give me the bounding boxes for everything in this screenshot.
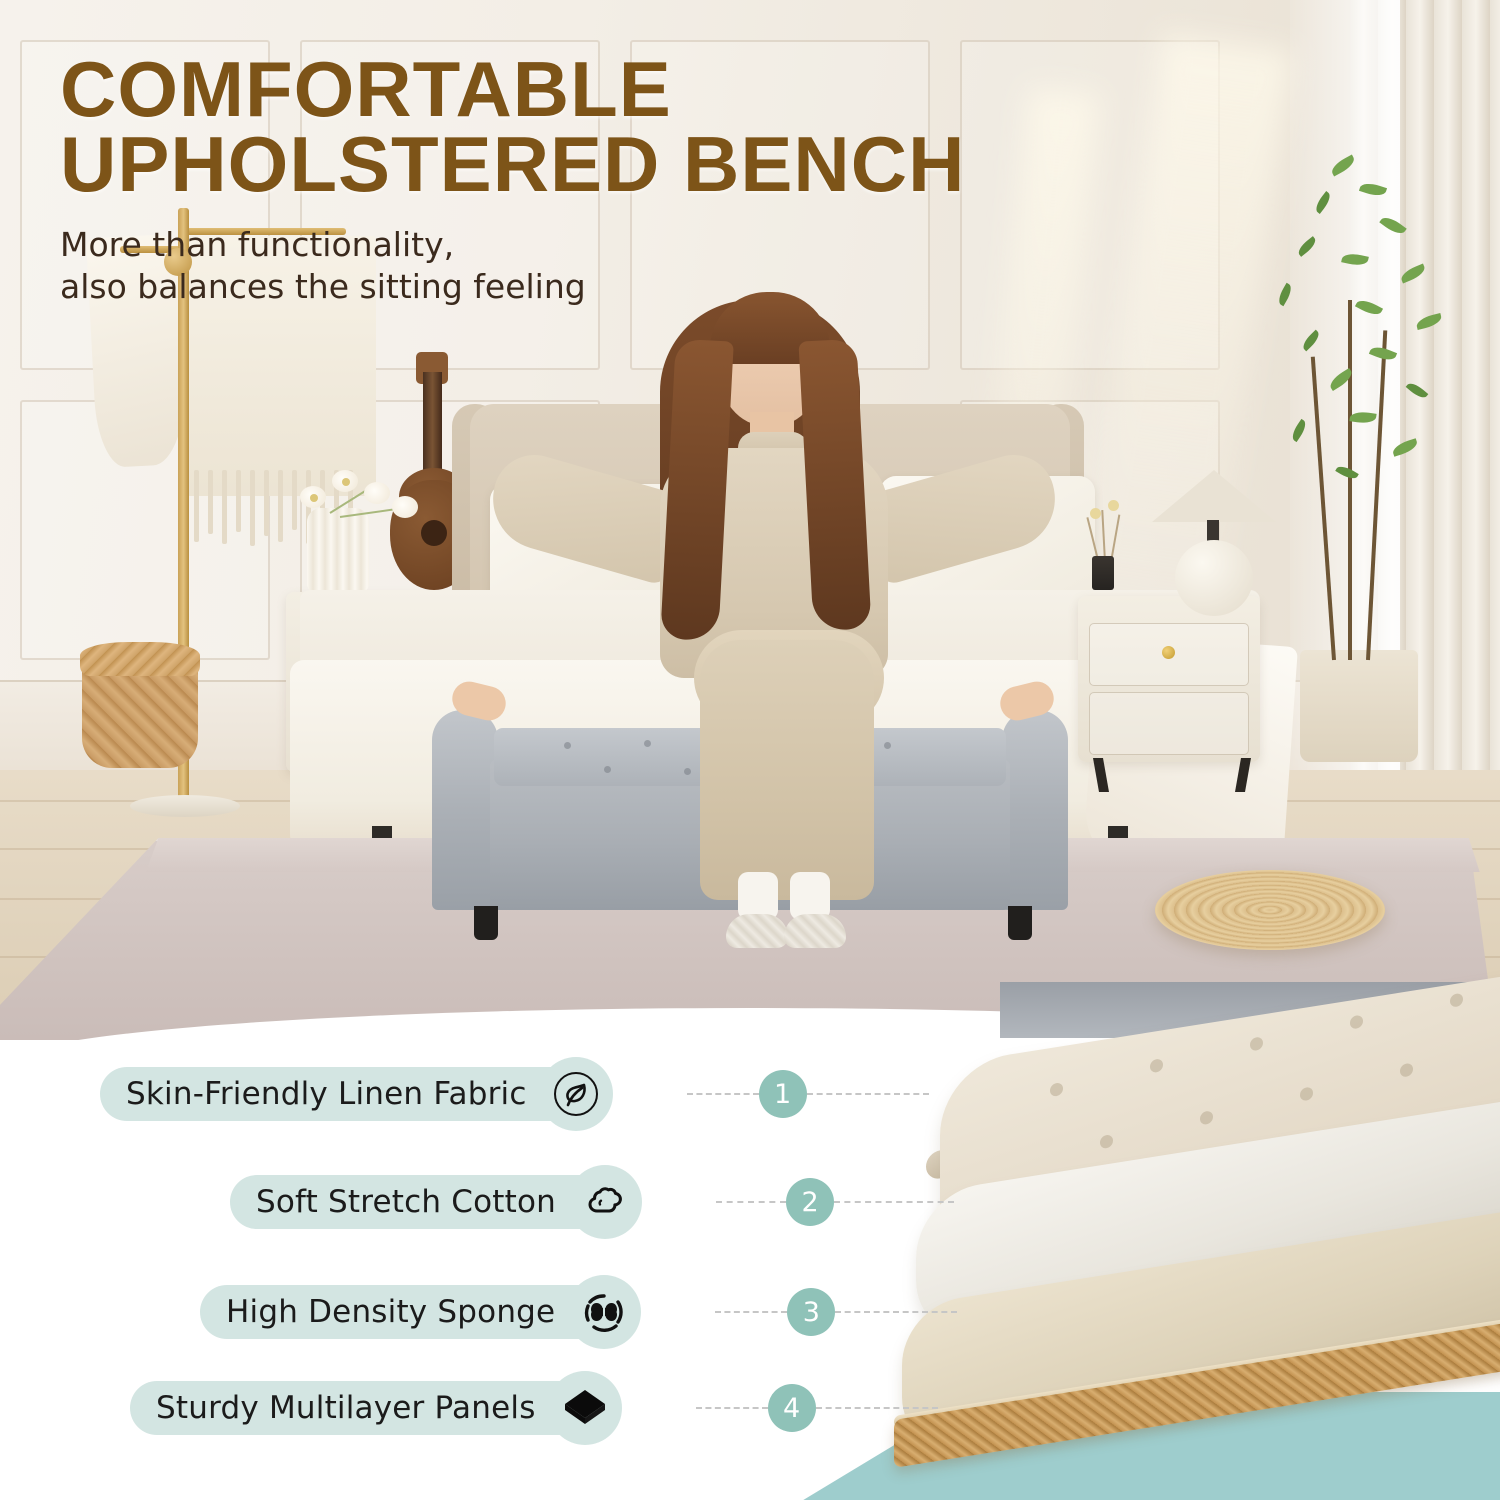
orchid-center xyxy=(310,494,318,502)
callout-label-1: Skin-Friendly Linen Fabric xyxy=(126,1076,527,1112)
callout-row-2[interactable]: Soft Stretch Cotton 2 xyxy=(230,1170,954,1234)
woven-basket-cuff xyxy=(80,642,200,676)
connector-dash-4b xyxy=(816,1407,938,1409)
panel-slab-icon xyxy=(548,1371,622,1445)
bench-leg xyxy=(1008,906,1032,940)
plant-pot xyxy=(1300,650,1418,762)
callout-label-4: Sturdy Multilayer Panels xyxy=(156,1390,536,1426)
orchid-center xyxy=(342,478,350,486)
nightstand-right xyxy=(1078,596,1260,762)
slipper-left xyxy=(726,914,788,948)
plant-foliage xyxy=(1230,150,1500,570)
callout-row-1[interactable]: Skin-Friendly Linen Fabric 1 xyxy=(100,1062,929,1126)
bedroom-lifestyle-photo: COMFORTABLE UPHOLSTERED BENCH More than … xyxy=(0,0,1500,1040)
bench-arm-right xyxy=(1002,710,1068,910)
ukulele-soundhole xyxy=(421,520,447,546)
connector-dash-2b xyxy=(834,1201,954,1203)
connector-dash-3b xyxy=(835,1311,957,1313)
bench-arm-left xyxy=(432,710,498,910)
sock-right xyxy=(790,872,830,920)
reed-diffuser-bottle xyxy=(1092,556,1114,590)
cotton-cloud-icon xyxy=(568,1165,642,1239)
callout-row-4[interactable]: Sturdy Multilayer Panels 4 xyxy=(130,1376,938,1440)
callout-pill-2[interactable]: Soft Stretch Cotton xyxy=(230,1175,630,1229)
callout-label-2: Soft Stretch Cotton xyxy=(256,1184,556,1220)
callout-number-3: 3 xyxy=(787,1288,835,1336)
page-title: COMFORTABLE UPHOLSTERED BENCH xyxy=(60,52,1120,202)
slipper-right xyxy=(784,914,846,948)
coat-rack-base xyxy=(130,795,240,817)
callout-number-1: 1 xyxy=(759,1070,807,1118)
feature-callouts: Skin-Friendly Linen Fabric 1 Soft Stretc… xyxy=(0,1040,900,1460)
callout-pill-1[interactable]: Skin-Friendly Linen Fabric xyxy=(100,1067,601,1121)
orchid-bloom xyxy=(392,496,418,518)
connector-dash-1 xyxy=(687,1093,759,1095)
callout-row-3[interactable]: High Density Sponge 3 xyxy=(200,1280,957,1344)
connector-dash-3 xyxy=(715,1311,787,1313)
headline-block: COMFORTABLE UPHOLSTERED BENCH More than … xyxy=(60,52,1120,308)
orchid-bloom xyxy=(364,482,390,504)
subtitle-line-2: also balances the sitting feeling xyxy=(60,266,1120,308)
sock-left xyxy=(738,872,778,920)
diffuser-bud xyxy=(1090,508,1101,519)
ribbed-vase xyxy=(307,508,369,592)
exploded-material-layers xyxy=(880,1018,1500,1500)
leaf-icon xyxy=(539,1057,613,1131)
diffuser-bud xyxy=(1108,500,1119,511)
woven-pouf xyxy=(1155,870,1385,950)
product-infographic-poster: COMFORTABLE UPHOLSTERED BENCH More than … xyxy=(0,0,1500,1500)
callout-pill-4[interactable]: Sturdy Multilayer Panels xyxy=(130,1381,610,1435)
headline-line-2: UPHOLSTERED BENCH xyxy=(60,127,1120,202)
sponge-quad-icon xyxy=(567,1275,641,1349)
callout-number-2: 2 xyxy=(786,1178,834,1226)
bench-leg xyxy=(474,906,498,940)
connector-dash-4 xyxy=(696,1407,768,1409)
callout-label-3: High Density Sponge xyxy=(226,1294,555,1330)
connector-dash-1b xyxy=(807,1093,929,1095)
subtitle: More than functionality, also balances t… xyxy=(60,224,1120,308)
trousers xyxy=(700,640,874,900)
callout-pill-3[interactable]: High Density Sponge xyxy=(200,1285,629,1339)
connector-dash-2 xyxy=(716,1201,786,1203)
callout-number-4: 4 xyxy=(768,1384,816,1432)
subtitle-line-1: More than functionality, xyxy=(60,224,1120,266)
